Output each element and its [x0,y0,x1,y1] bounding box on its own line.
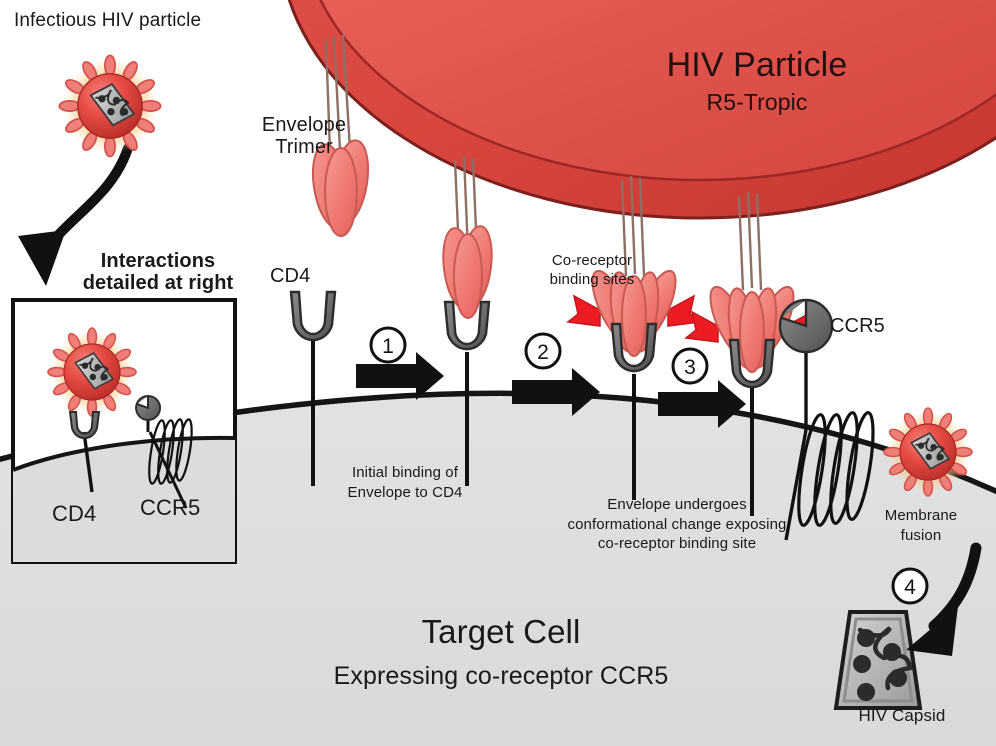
hiv-capsid-released [836,612,920,708]
subtitle-target-cell-coreceptor: Expressing co-receptor CCR5 [236,662,766,690]
caption-step-2: Envelope undergoes conformational change… [548,495,806,554]
label-hiv-capsid: HIV Capsid [832,706,972,725]
label-infectious-hiv-particle: Infectious HIV particle [14,10,201,31]
label-coreceptor-binding-sites: Co-receptor binding sites [528,252,656,290]
step-number-1: 1 [382,335,394,358]
label-ccr5-main: CCR5 [830,315,885,337]
step-number-2: 2 [537,341,549,364]
caption-step-1: Initial binding of Envelope to CD4 [320,463,490,502]
title-hiv-particle: HIV Particle [612,46,902,84]
label-ccr5-inset: CCR5 [140,496,200,521]
virion-infectious [59,55,160,156]
inset-detail-box [13,300,235,562]
label-cd4-inset: CD4 [52,502,96,527]
subtitle-hiv-particle-tropism: R5-Tropic [612,90,902,116]
label-interactions-detailed-at-right: Interactions detailed at right [58,250,258,295]
step-number-4: 4 [904,576,916,599]
title-target-cell: Target Cell [296,614,706,651]
step-number-3: 3 [684,356,696,379]
label-membrane-fusion: Membrane fusion [866,506,976,545]
hiv-entry-diagram: 1 2 3 4 Infectious HIV particle Interact… [0,0,996,746]
label-envelope-trimer: Envelope Trimer [244,114,364,159]
label-cd4-main: CD4 [270,265,310,287]
